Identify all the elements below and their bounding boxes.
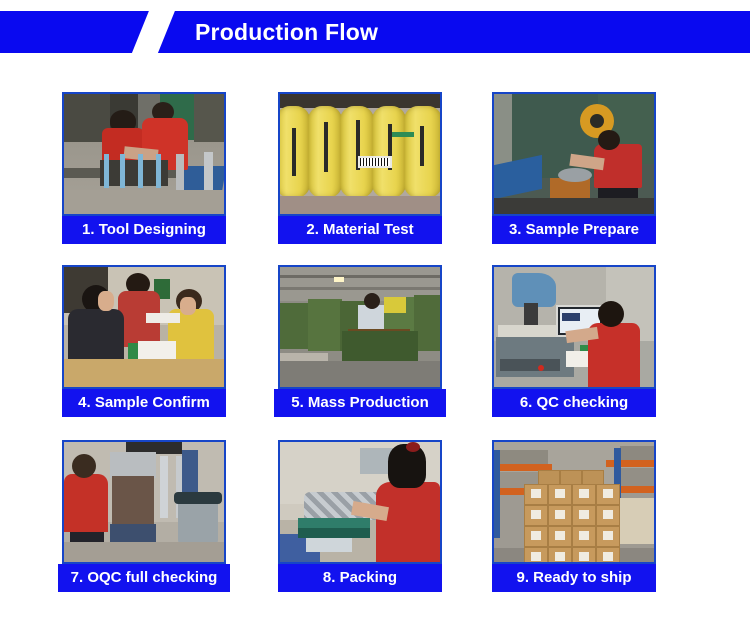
process-step-card-8[interactable]: 8. Packing [278,440,442,592]
carton-label [555,510,565,519]
carton-label [579,531,589,540]
step-caption-9: 9. Ready to ship [492,564,656,592]
step-photo-mass-production [278,265,442,389]
step-photo-sample-confirm [62,265,226,389]
step-photo-packing [278,440,442,564]
process-step-card-6[interactable]: 6. QC checking [492,265,656,417]
step-caption-2: 2. Material Test [278,216,442,244]
process-step-card-9[interactable]: 9. Ready to ship [492,440,656,592]
production-flow-grid: 1. Tool Designing 2. Material Test [0,53,750,638]
carton-label [531,510,541,519]
step-photo-sample-prepare [492,92,656,216]
step-caption-8: 8. Packing [278,564,442,592]
carton-label [579,489,589,498]
step-photo-tool-designing [62,92,226,216]
process-step-card-7[interactable]: 7. OQC full checking [62,440,226,592]
carton-label [531,489,541,498]
banner-slash-decoration [129,11,176,53]
carton-label [579,510,589,519]
carton-label [555,552,565,561]
carton-label [603,510,613,519]
step-caption-4: 4. Sample Confirm [62,389,226,417]
carton-label [603,552,613,561]
page-title: Production Flow [195,11,378,53]
step-caption-5: 5. Mass Production [274,389,446,417]
step-caption-1: 1. Tool Designing [62,216,226,244]
process-step-card-4[interactable]: 4. Sample Confirm [62,265,226,417]
carton-label [603,489,613,498]
step-photo-qc-checking [492,265,656,389]
page-header-banner: Production Flow [0,11,750,53]
step-caption-7: 7. OQC full checking [58,564,230,592]
process-step-card-3[interactable]: 3. Sample Prepare [492,92,656,244]
process-step-card-5[interactable]: 5. Mass Production [278,265,442,417]
step-caption-3: 3. Sample Prepare [492,216,656,244]
carton-label [531,531,541,540]
process-step-card-1[interactable]: 1. Tool Designing [62,92,226,244]
carton-label [555,489,565,498]
process-step-card-2[interactable]: 2. Material Test [278,92,442,244]
carton-label [555,531,565,540]
step-photo-ready-to-ship [492,440,656,564]
step-photo-oqc-full-checking [62,440,226,564]
step-caption-6: 6. QC checking [492,389,656,417]
carton-label [531,552,541,561]
carton-label [603,531,613,540]
carton-label [579,552,589,561]
step-photo-material-test [278,92,442,216]
